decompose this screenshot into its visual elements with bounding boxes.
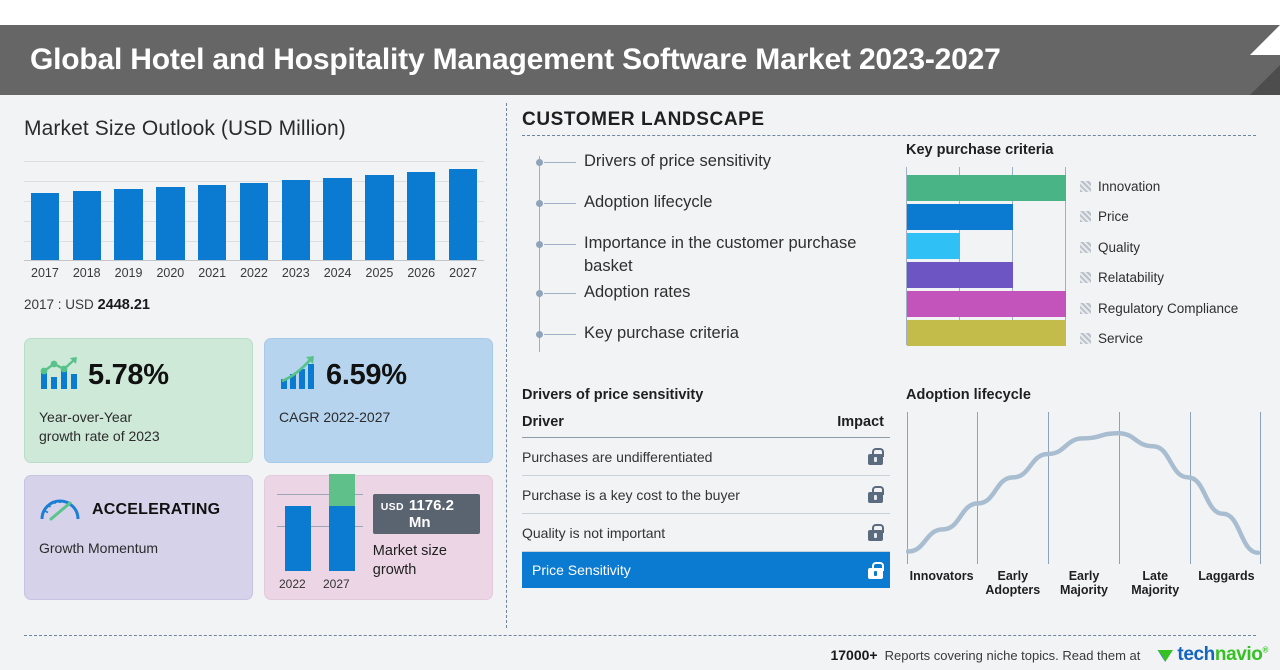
market-size-bar <box>400 161 442 260</box>
adoption-stage-label: LateMajority <box>1120 569 1191 597</box>
table-header: Driver Impact <box>522 414 890 438</box>
market-size-x-label: 2027 <box>442 266 484 280</box>
yoy-value: 5.78% <box>88 359 169 392</box>
hatched-square-icon <box>1080 303 1091 314</box>
connector-line <box>544 334 576 335</box>
kpc-legend-label: Quality <box>1098 240 1140 255</box>
driver-name: Purchases are undifferentiated <box>522 449 712 465</box>
key-purchase-criteria-widget: Key purchase criteria InnovationPriceQua… <box>906 142 1262 354</box>
adoption-stage-label: EarlyAdopters <box>977 569 1048 597</box>
yoy-label: Year-over-Year growth rate of 2023 <box>39 408 238 446</box>
vertical-divider <box>506 103 507 628</box>
kpc-bar <box>907 233 960 259</box>
kpi-cards: 5.78% Year-over-Year growth rate of 2023 <box>24 338 494 612</box>
landscape-item-label: Adoption lifecycle <box>584 191 712 214</box>
badge-value: 1176.2 Mn <box>409 497 472 531</box>
table-row[interactable]: Purchase is a key cost to the buyer <box>522 476 890 514</box>
cagr-label: CAGR 2022-2027 <box>279 408 478 427</box>
lock-icon <box>868 448 883 465</box>
bar-line-chart-icon <box>39 355 79 396</box>
yoy-label-line2: growth rate of 2023 <box>39 427 238 446</box>
connector-line <box>544 203 576 204</box>
bullet-dot-icon <box>536 159 543 166</box>
connector-line <box>544 293 576 294</box>
connector-line <box>544 162 576 163</box>
table-row[interactable]: Quality is not important <box>522 514 890 552</box>
kpc-bar <box>907 291 1066 317</box>
growth-label-line1: Market size <box>373 542 480 561</box>
market-size-x-label: 2022 <box>233 266 275 280</box>
logo-wordmark: technavio® <box>1177 644 1268 666</box>
rising-bar-arrow-icon <box>279 355 317 396</box>
market-size-bar <box>359 161 401 260</box>
kpc-bar <box>907 320 1066 346</box>
drivers-table: Driver Impact Purchases are undifferenti… <box>522 414 890 588</box>
landscape-list: Drivers of price sensitivityAdoption lif… <box>522 142 892 360</box>
kpc-legend: InnovationPriceQualityRelatabilityRegula… <box>1080 167 1238 354</box>
connector-line <box>544 244 576 245</box>
hatched-square-icon <box>1080 211 1091 222</box>
adoption-chart: InnovatorsEarlyAdoptersEarlyMajorityLate… <box>906 412 1262 597</box>
footer-divider <box>24 635 1256 636</box>
card-yoy-growth[interactable]: 5.78% Year-over-Year growth rate of 2023 <box>24 338 253 463</box>
main-canvas: Market Size Outlook (USD Million) 201720… <box>0 95 1280 640</box>
market-size-bar <box>24 161 66 260</box>
table-row[interactable]: Price Sensitivity <box>522 552 890 588</box>
market-size-title: Market Size Outlook (USD Million) <box>24 95 494 141</box>
market-size-bar <box>108 161 150 260</box>
yoy-label-line1: Year-over-Year <box>39 408 238 427</box>
bullet-dot-icon <box>536 241 543 248</box>
card-cagr[interactable]: 6.59% CAGR 2022-2027 <box>264 338 493 463</box>
lock-icon <box>868 524 883 541</box>
market-size-bar <box>66 161 108 260</box>
market-size-x-label: 2021 <box>191 266 233 280</box>
cagr-value: 6.59% <box>326 359 407 392</box>
kpc-legend-label: Regulatory Compliance <box>1098 301 1238 316</box>
adoption-lifecycle-widget: Adoption lifecycle InnovatorsEarlyAdopte… <box>906 387 1262 597</box>
adoption-curve <box>906 412 1262 564</box>
market-size-x-label: 2023 <box>275 266 317 280</box>
note-value: 2448.21 <box>98 297 150 313</box>
logo-trademark: ® <box>1263 646 1269 655</box>
market-size-bar <box>233 161 275 260</box>
footer: 17000+ Reports covering niche topics. Re… <box>0 640 1280 670</box>
market-size-x-label: 2024 <box>317 266 359 280</box>
kpc-legend-item: Price <box>1080 202 1238 233</box>
landscape-item[interactable]: Adoption rates <box>522 281 892 319</box>
left-panel: Market Size Outlook (USD Million) 201720… <box>24 95 494 313</box>
kpc-legend-item: Innovation <box>1080 171 1238 202</box>
adoption-stage-label: Innovators <box>906 569 977 597</box>
lock-icon <box>868 562 883 579</box>
kpc-legend-item: Service <box>1080 324 1238 355</box>
infographic-page: Global Hotel and Hospitality Management … <box>0 0 1280 670</box>
driver-name: Price Sensitivity <box>532 562 631 578</box>
growth-label: Market size growth <box>373 542 480 580</box>
market-size-x-label: 2017 <box>24 266 66 280</box>
card-growth-momentum[interactable]: ACCELERATING Growth Momentum <box>24 475 253 600</box>
market-size-bar <box>149 161 191 260</box>
report-count: 17000+ <box>830 647 877 663</box>
landscape-item[interactable]: Adoption lifecycle <box>522 191 892 229</box>
market-size-note: 2017 : USD 2448.21 <box>24 297 494 313</box>
table-row[interactable]: Purchases are undifferentiated <box>522 438 890 476</box>
bullet-dot-icon <box>536 290 543 297</box>
bullet-dot-icon <box>536 200 543 207</box>
hatched-square-icon <box>1080 242 1091 253</box>
banner-fold-icon <box>1250 25 1280 55</box>
card-market-size-growth[interactable]: 2022 2027 USD 1176.2 Mn Market size grow… <box>264 475 493 600</box>
market-size-bar <box>442 161 484 260</box>
kpc-bar <box>907 204 1013 230</box>
adoption-stage-label: Laggards <box>1191 569 1262 597</box>
landscape-item-label: Adoption rates <box>584 281 690 304</box>
kpc-bar <box>907 175 1066 201</box>
kpc-bar <box>907 262 1013 288</box>
speedometer-icon <box>39 492 81 527</box>
market-size-bar <box>191 161 233 260</box>
kpc-legend-label: Price <box>1098 209 1129 224</box>
market-size-badge: USD 1176.2 Mn <box>373 494 480 534</box>
customer-landscape-title: CUSTOMER LANDSCAPE <box>522 95 1262 131</box>
landscape-item[interactable]: Drivers of price sensitivity <box>522 150 892 188</box>
market-size-x-label: 2026 <box>400 266 442 280</box>
landscape-item-label: Drivers of price sensitivity <box>584 150 771 173</box>
growth-label-line2: growth <box>373 561 480 580</box>
kpc-legend-item: Regulatory Compliance <box>1080 293 1238 324</box>
market-size-bar <box>317 161 359 260</box>
footer-text: Reports covering niche topics. Read them… <box>885 648 1141 663</box>
momentum-value: ACCELERATING <box>92 501 220 519</box>
adoption-title: Adoption lifecycle <box>906 387 1262 403</box>
hatched-square-icon <box>1080 181 1091 192</box>
column-impact: Impact <box>837 414 884 430</box>
kpc-legend-item: Relatability <box>1080 263 1238 294</box>
logo-tech: tech <box>1177 644 1214 665</box>
mini-label-2027: 2027 <box>323 577 350 591</box>
kpc-chart <box>906 167 1068 345</box>
header-banner: Global Hotel and Hospitality Management … <box>0 25 1280 95</box>
kpc-legend-item: Quality <box>1080 232 1238 263</box>
market-size-x-label: 2025 <box>359 266 401 280</box>
landscape-item-label: Importance in the customer purchase bask… <box>584 232 892 278</box>
market-size-x-label: 2020 <box>149 266 191 280</box>
two-bar-growth-icon: 2022 2027 <box>277 486 363 591</box>
landscape-item-label: Key purchase criteria <box>584 322 739 345</box>
logo-navio: navio <box>1215 644 1263 665</box>
drivers-table-widget: Drivers of price sensitivity Driver Impa… <box>522 387 890 588</box>
landscape-item[interactable]: Key purchase criteria <box>522 322 892 360</box>
note-prefix: 2017 : USD <box>24 297 94 312</box>
kpc-title: Key purchase criteria <box>906 142 1262 158</box>
driver-name: Quality is not important <box>522 525 665 541</box>
market-size-bar <box>275 161 317 260</box>
technavio-logo[interactable]: technavio® <box>1157 644 1268 666</box>
lock-icon <box>868 486 883 503</box>
market-size-x-label: 2018 <box>66 266 108 280</box>
momentum-label: Growth Momentum <box>39 539 238 558</box>
title-underline <box>522 135 1256 136</box>
market-size-chart <box>24 161 484 261</box>
market-size-x-label: 2019 <box>108 266 150 280</box>
hatched-square-icon <box>1080 333 1091 344</box>
market-size-x-labels: 2017201820192020202120222023202420252026… <box>24 266 484 280</box>
page-title: Global Hotel and Hospitality Management … <box>30 25 1001 95</box>
driver-name: Purchase is a key cost to the buyer <box>522 487 740 503</box>
bullet-dot-icon <box>536 331 543 338</box>
adoption-stage-label: EarlyMajority <box>1048 569 1119 597</box>
technavio-arrow-icon <box>1157 648 1174 663</box>
hatched-square-icon <box>1080 272 1091 283</box>
mini-label-2022: 2022 <box>279 577 306 591</box>
kpc-legend-label: Relatability <box>1098 270 1164 285</box>
landscape-item[interactable]: Importance in the customer purchase bask… <box>522 232 892 278</box>
badge-unit: USD <box>381 501 404 513</box>
banner-fold-shadow-icon <box>1250 65 1280 95</box>
drivers-title: Drivers of price sensitivity <box>522 387 890 403</box>
right-panel: CUSTOMER LANDSCAPE Drivers of price sens… <box>522 95 1262 357</box>
column-driver: Driver <box>522 414 564 430</box>
kpc-legend-label: Service <box>1098 331 1143 346</box>
kpc-legend-label: Innovation <box>1098 179 1160 194</box>
